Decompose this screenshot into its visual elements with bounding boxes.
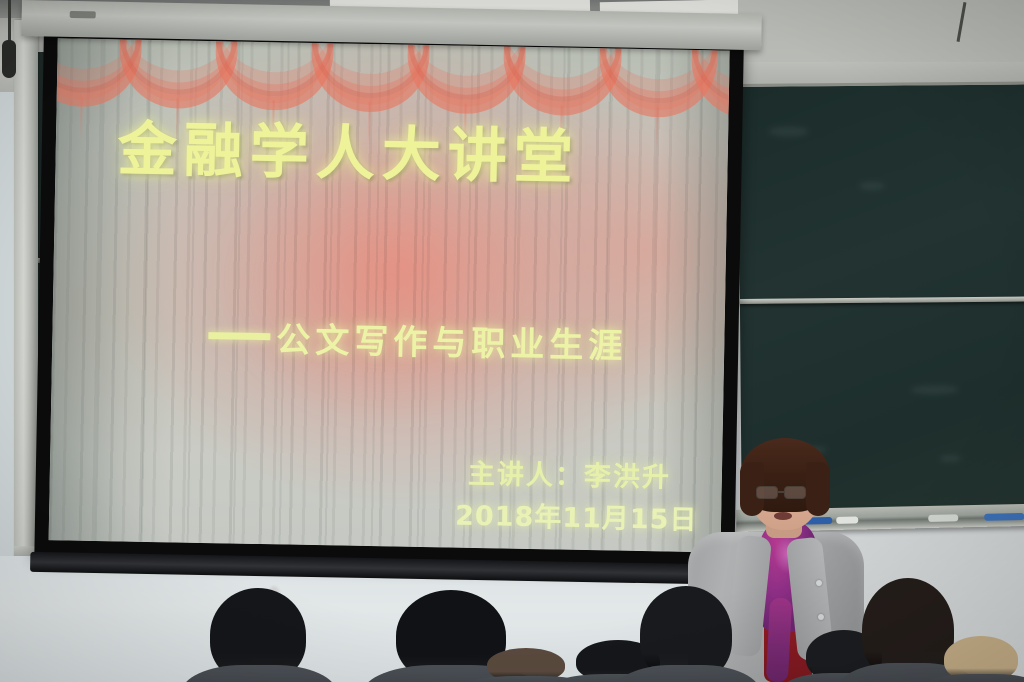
marker-blue: [984, 513, 1024, 521]
chalk-smudge: [911, 385, 959, 394]
presenter-hair-right: [806, 462, 830, 516]
marker-white: [928, 514, 958, 522]
lecture-hall-photo: 金融学人大讲堂 公文写作与职业生涯 主讲人：李洪升 2018年11月15日: [0, 0, 1024, 682]
projected-slide: 金融学人大讲堂 公文写作与职业生涯 主讲人：李洪升 2018年11月15日: [49, 38, 730, 552]
coat-button: [816, 580, 822, 586]
slide-date-line: 2018年11月15日: [455, 494, 698, 537]
subtitle-dash-icon: [208, 332, 270, 340]
projection-screen[interactable]: 金融学人大讲堂 公文写作与职业生涯 主讲人：李洪升 2018年11月15日: [34, 28, 744, 569]
slide-presenter-line: 主讲人：李洪升: [468, 452, 672, 495]
screen-black-border: 金融学人大讲堂 公文写作与职业生涯 主讲人：李洪升 2018年11月15日: [34, 28, 744, 569]
chalk-smudge: [768, 126, 808, 136]
glasses-icon: [784, 486, 806, 499]
coat-button: [818, 614, 824, 620]
slide-subtitle: 公文写作与职业生涯: [276, 312, 628, 367]
slide-text-layer: 金融学人大讲堂 公文写作与职业生涯 主讲人：李洪升 2018年11月15日: [49, 38, 730, 552]
audience-head-5: [640, 586, 732, 682]
slide-title: 金融学人大讲堂: [117, 101, 580, 194]
housing-logo: [70, 11, 96, 18]
slide-subtitle-row: 公文写作与职业生涯: [208, 311, 628, 368]
audience-head-1: [210, 588, 306, 682]
chalk-smudge: [939, 455, 961, 462]
screen-mount-bracket: [2, 40, 16, 78]
audience-head-3: [487, 648, 565, 682]
chalk-smudge: [859, 182, 885, 190]
board-aluminium-frame: [14, 20, 38, 560]
glasses-bridge: [778, 491, 785, 493]
chalkboard-divider-rail: [740, 296, 1024, 304]
presenter-mouth: [774, 512, 792, 520]
glasses-icon: [756, 486, 778, 499]
audience-head-8: [944, 636, 1018, 682]
presenter-scarf-tail: [766, 597, 792, 682]
audience-head-7: [862, 578, 954, 682]
